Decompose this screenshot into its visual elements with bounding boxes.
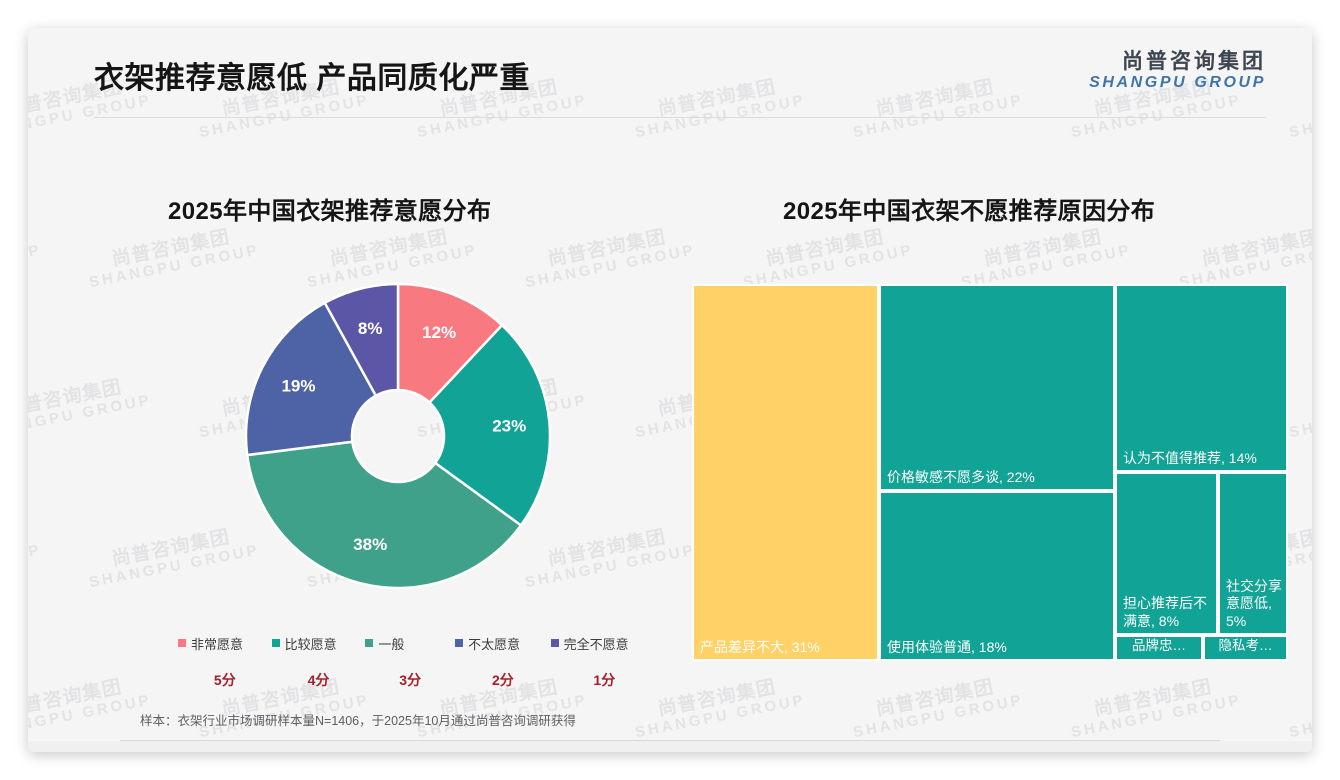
donut-legend: 非常愿意比较愿意一般不太愿意完全不愿意: [178, 632, 658, 654]
donut-slice-label: 38%: [353, 535, 387, 554]
treemap-cell-label: 社交分享意愿低, 5%: [1226, 578, 1282, 630]
treemap-cell-label: 担心推荐后不满意, 8%: [1123, 595, 1212, 630]
slide-header: 衣架推荐意愿低 产品同质化严重 尚普咨询集团 SHANGPU GROUP: [28, 28, 1312, 120]
legend-label: 比较愿意: [285, 634, 337, 653]
treemap-cell[interactable]: 担心推荐后不满意, 8%: [1115, 472, 1218, 635]
score-label: 3分: [365, 670, 455, 690]
legend-label: 不太愿意: [468, 634, 520, 653]
page-title: 衣架推荐意愿低 产品同质化严重: [94, 53, 530, 97]
legend-swatch-icon: [551, 639, 559, 647]
treemap-cell[interactable]: 品牌忠…: [1115, 635, 1203, 661]
legend-label: 非常愿意: [191, 634, 243, 653]
treemap-cell-label: 价格敏感不愿多谈, 22%: [887, 469, 1109, 486]
legend-item[interactable]: 一般: [365, 634, 455, 653]
treemap-cell[interactable]: 产品差异不大, 31%: [692, 284, 879, 661]
source-footnote: 样本：衣架行业市场调研样本量N=1406，于2025年10月通过尚普咨询调研获得: [140, 710, 576, 729]
watermark-tile: 尚普咨询集团SHANGPU GROUP: [1174, 222, 1312, 292]
score-label: 2分: [455, 670, 551, 690]
donut-slice-label: 23%: [492, 416, 526, 435]
slide-canvas: 尚普咨询集团SHANGPU GROUP尚普咨询集团SHANGPU GROUP尚普…: [28, 28, 1312, 752]
treemap-cell[interactable]: 社交分享意愿低, 5%: [1218, 472, 1288, 635]
watermark-tile: 尚普咨询集团SHANGPU GROUP: [28, 522, 43, 592]
legend-item[interactable]: 不太愿意: [455, 634, 551, 653]
watermark-tile: 尚普咨询集团SHANGPU GROUP: [28, 672, 153, 742]
treemap-cell[interactable]: 价格敏感不愿多谈, 22%: [879, 284, 1115, 491]
watermark-tile: 尚普咨询集团SHANGPU GROUP: [738, 222, 915, 292]
treemap-cell[interactable]: 认为不值得推荐, 14%: [1115, 284, 1288, 472]
legend-swatch-icon: [455, 639, 463, 647]
legend-label: 完全不愿意: [564, 634, 629, 653]
score-label: 5分: [178, 670, 272, 690]
legend-swatch-icon: [272, 639, 280, 647]
legend-item[interactable]: 比较愿意: [272, 634, 366, 653]
left-chart-title: 2025年中国衣架推荐意愿分布: [168, 191, 491, 226]
watermark-tile: 尚普咨询集团SHANGPU GROUP: [1284, 372, 1312, 442]
logo-chinese-text: 尚普咨询集团: [1089, 50, 1266, 74]
legend-swatch-icon: [365, 639, 373, 647]
treemap-cell-label: 产品差异不大, 31%: [700, 639, 873, 656]
legend-swatch-icon: [178, 639, 186, 647]
logo-english-text: SHANGPU GROUP: [1089, 74, 1266, 92]
score-label: 4分: [272, 670, 366, 690]
donut-slice-label: 19%: [281, 376, 315, 395]
treemap-chart: 产品差异不大, 31%价格敏感不愿多谈, 22%使用体验普通, 18%认为不值得…: [692, 284, 1288, 661]
company-logo: 尚普咨询集团 SHANGPU GROUP: [1089, 50, 1266, 91]
header-divider: [94, 117, 1266, 118]
treemap-cell[interactable]: 隐私考…: [1203, 635, 1288, 661]
donut-slice-label: 12%: [422, 323, 456, 342]
treemap-cell-label: 认为不值得推荐, 14%: [1123, 450, 1282, 467]
watermark-tile: 尚普咨询集团SHANGPU GROUP: [28, 372, 153, 442]
watermark-tile: 尚普咨询集团SHANGPU GROUP: [956, 222, 1133, 292]
treemap-cell-label: 使用体验普通, 18%: [887, 639, 1109, 656]
legend-item[interactable]: 非常愿意: [178, 634, 272, 653]
legend-label: 一般: [378, 634, 404, 653]
treemap-cell-label: 隐私考…: [1205, 638, 1286, 655]
slide-footer: ©2025.12 SHANGPU GROUP www.shangpu-china…: [28, 741, 1312, 752]
treemap-cell[interactable]: 使用体验普通, 18%: [879, 491, 1115, 661]
score-label: 1分: [551, 670, 658, 690]
watermark-tile: 尚普咨询集团SHANGPU GROUP: [848, 672, 1025, 742]
legend-item[interactable]: 完全不愿意: [551, 634, 658, 653]
donut-score-row: 5分4分3分2分1分: [178, 669, 658, 691]
watermark-tile: 尚普咨询集团SHANGPU GROUP: [1066, 672, 1243, 742]
donut-chart-svg: 12%23%38%19%8%: [228, 266, 568, 606]
treemap-cell-label: 品牌忠…: [1117, 638, 1201, 655]
donut-slice-label: 8%: [358, 319, 383, 338]
watermark-tile: 尚普咨询集团SHANGPU GROUP: [1284, 672, 1312, 742]
right-chart-title: 2025年中国衣架不愿推荐原因分布: [783, 191, 1155, 226]
donut-chart: 12%23%38%19%8%: [188, 266, 608, 626]
watermark-tile: 尚普咨询集团SHANGPU GROUP: [28, 222, 43, 292]
